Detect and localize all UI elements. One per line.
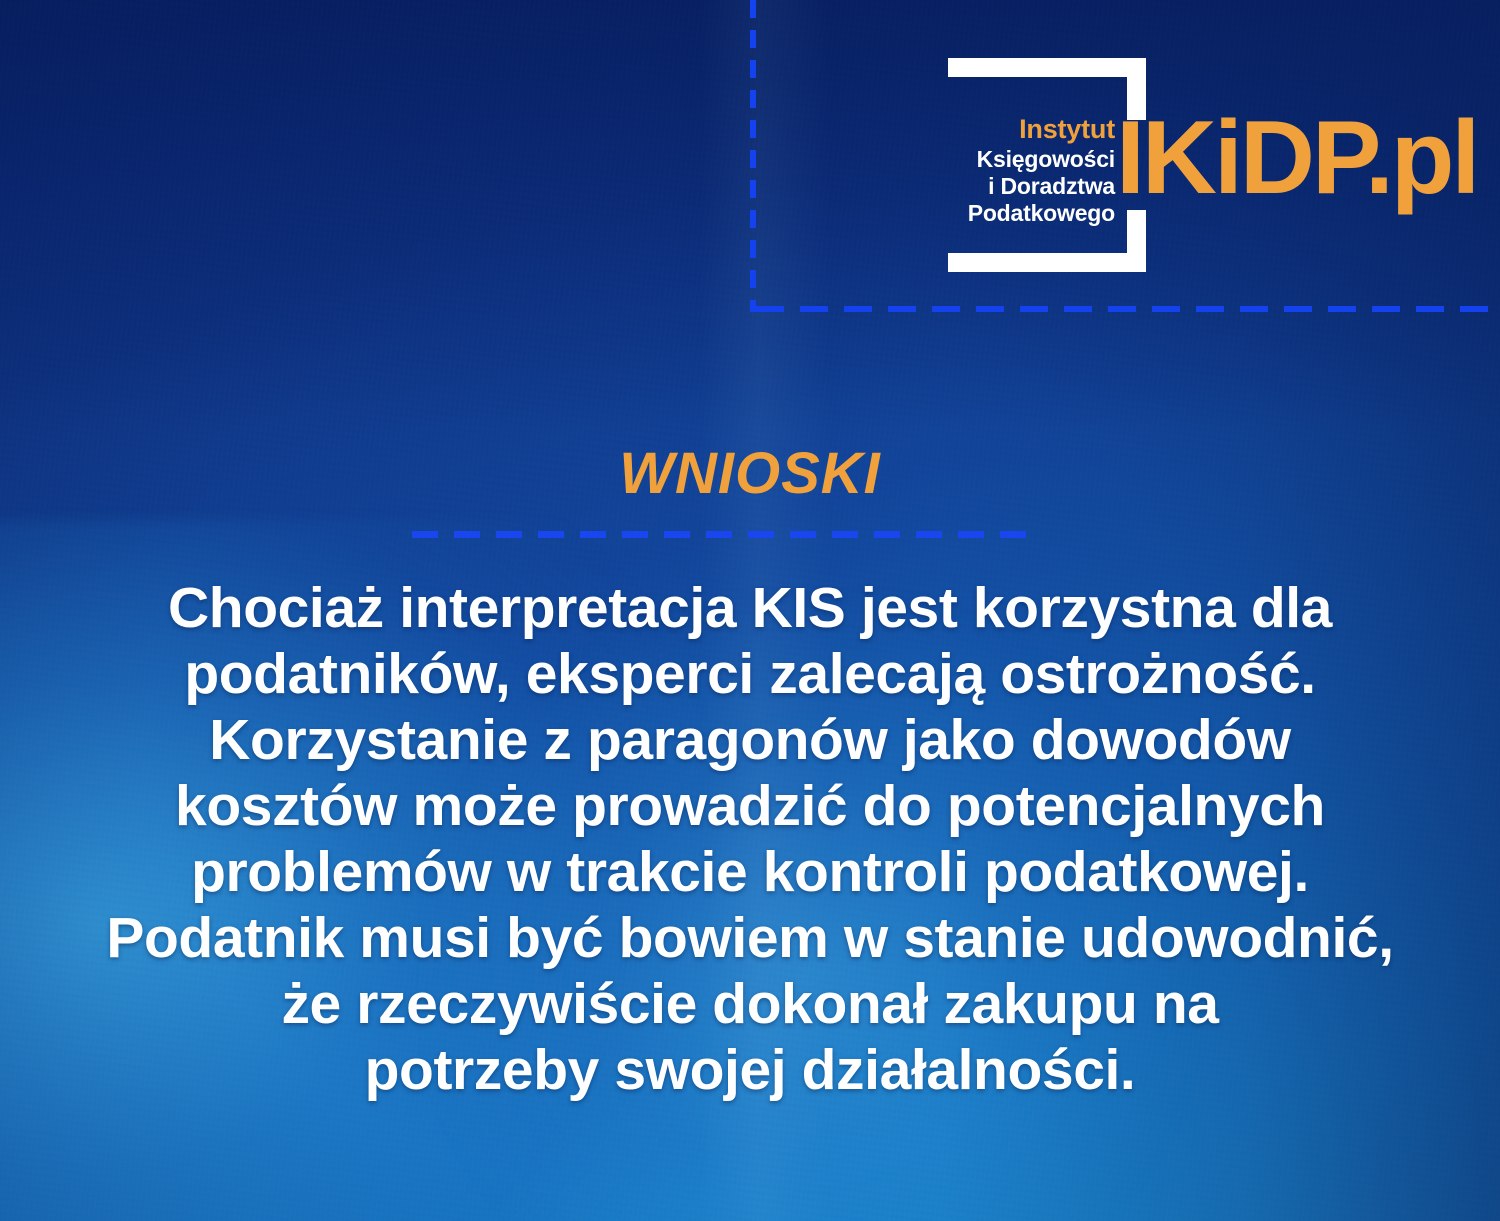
body-line: Korzystanie z paragonów jako dowodów <box>60 707 1440 773</box>
slide-canvas: Instytut Księgowości i Doradztwa Podatko… <box>0 0 1500 1221</box>
logo-institute-name: Instytut Księgowości i Doradztwa Podatko… <box>944 114 1115 227</box>
logo-institute-line-2: Księgowości <box>944 146 1115 173</box>
logo-wordmark: IKiDP.pl <box>1116 106 1477 210</box>
body-line: podatników, eksperci zalecają ostrożność… <box>60 641 1440 707</box>
body-line: że rzeczywiście dokonał zakupu na <box>60 971 1440 1037</box>
body-line: Podatnik musi być bowiem w stanie udowod… <box>60 905 1440 971</box>
title-dashed-divider <box>412 531 1034 538</box>
ikidp-logo[interactable]: Instytut Księgowości i Doradztwa Podatko… <box>944 58 1444 273</box>
logo-institute-line-4: Podatkowego <box>944 200 1115 227</box>
logo-institute-line-1: Instytut <box>944 114 1115 146</box>
body-line: problemów w trakcie kontroli podatkowej. <box>60 839 1440 905</box>
body-line: Chociaż interpretacja KIS jest korzystna… <box>60 575 1440 641</box>
logo-bracket-bottom-icon <box>948 253 1146 272</box>
logo-bracket-top-icon <box>948 58 1146 77</box>
dashed-line-vertical <box>750 0 756 312</box>
logo-institute-line-3: i Doradztwa <box>944 173 1115 200</box>
body-line: kosztów może prowadzić do potencjalnych <box>60 773 1440 839</box>
slide-title: WNIOSKI <box>0 440 1500 507</box>
body-paragraph: Chociaż interpretacja KIS jest korzystna… <box>60 575 1440 1103</box>
dashed-line-horizontal <box>756 306 1500 312</box>
body-line: potrzeby swojej działalności. <box>60 1037 1440 1103</box>
